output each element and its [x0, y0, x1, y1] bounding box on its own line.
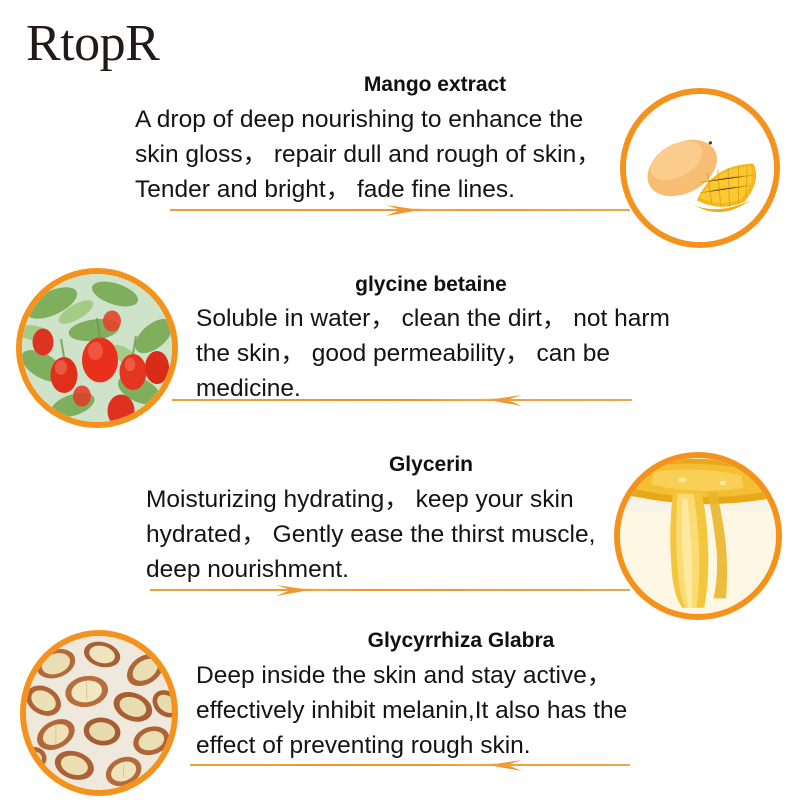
ingredient-infographic: RtopR Mango extract A drop of deep nouri…: [0, 0, 800, 800]
licorice-root-photo: [20, 630, 178, 796]
arrow-right-icon: [408, 755, 528, 775]
section-body-line: Moisturizing hydrating， keep your skin: [146, 483, 646, 518]
section-divider: [172, 390, 632, 410]
section-body-line: Soluble in water， clean the dirt， not ha…: [196, 302, 696, 337]
section-glycyrrhiza-glabra: Glycyrrhiza Glabra Deep inside the skin …: [196, 628, 696, 764]
section-glycine-betaine: glycine betaine Soluble in water， clean …: [196, 272, 696, 407]
section-mango-extract: Mango extract A drop of deep nourishing …: [135, 72, 635, 208]
goji-berry-photo: [16, 268, 178, 428]
section-body-line: Deep inside the skin and stay active，: [196, 659, 696, 694]
mango-photo: [620, 88, 780, 248]
brand-logo: RtopR: [26, 18, 159, 70]
section-body-line: hydrated， Gently ease the thirst muscle,: [146, 518, 646, 553]
section-heading: Mango extract: [225, 72, 645, 98]
section-glycerin: Glycerin Moisturizing hydrating， keep yo…: [146, 452, 646, 588]
arrow-right-icon: [408, 390, 528, 410]
divider-rule: [172, 399, 632, 401]
section-heading: Glycerin: [221, 452, 641, 478]
section-body-line: skin gloss， repair dull and rough of ski…: [135, 138, 635, 173]
section-heading: glycine betaine: [251, 272, 611, 298]
arrow-left-icon: [380, 200, 500, 220]
arrow-left-icon: [270, 580, 390, 600]
section-body-line: effectively inhibit melanin,It also has …: [196, 694, 696, 729]
section-divider: [190, 755, 630, 775]
divider-rule: [150, 589, 630, 591]
section-body-line: A drop of deep nourishing to enhance the: [135, 103, 635, 138]
section-divider: [170, 200, 630, 220]
section-divider: [150, 580, 630, 600]
section-body-line: the skin， good permeability， can be: [196, 337, 696, 372]
section-heading: Glycyrrhiza Glabra: [261, 628, 661, 654]
glycerin-honey-photo: [614, 452, 782, 620]
